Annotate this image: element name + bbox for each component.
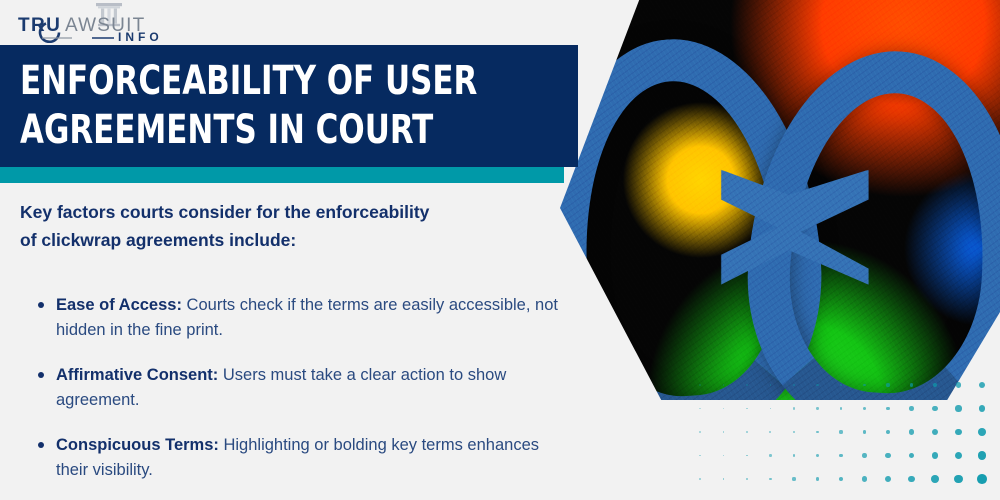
logo-wordmark: TRU AWSUIT INFO: [18, 14, 168, 43]
brand-logo[interactable]: TRU AWSUIT INFO: [18, 3, 168, 43]
list-item: Affirmative Consent: Users must take a c…: [30, 363, 560, 413]
halftone-dot-pattern: [700, 385, 1000, 500]
list-item: Conspicuous Terms: Highlighting or boldi…: [30, 433, 560, 483]
intro-text: Key factors courts consider for the enfo…: [20, 198, 450, 254]
bullet-term: Conspicuous Terms:: [56, 436, 219, 454]
page-title: ENFORCEABILITY OF USER AGREEMENTS IN COU…: [20, 57, 484, 155]
hero-image: [560, 0, 1000, 400]
list-item: Ease of Access: Courts check if the term…: [30, 293, 560, 343]
infographic-canvas: TRU AWSUIT INFO ENFORCEABILITY OF USER A…: [0, 0, 1000, 500]
teal-divider: [0, 167, 564, 183]
factors-list: Ease of Access: Courts check if the term…: [30, 293, 560, 500]
bullet-term: Affirmative Consent:: [56, 366, 218, 384]
svg-text:INFO: INFO: [118, 30, 163, 43]
title-band: ENFORCEABILITY OF USER AGREEMENTS IN COU…: [0, 45, 578, 167]
hero-texture-overlay: [560, 0, 1000, 400]
bullet-term: Ease of Access:: [56, 296, 182, 314]
